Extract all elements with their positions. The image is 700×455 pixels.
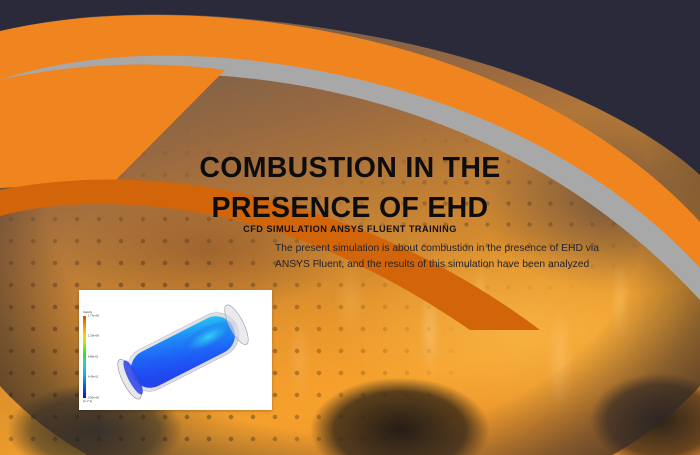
colorbar-gradient	[83, 316, 86, 398]
slide-body-text: The present simulation is about combusti…	[275, 241, 627, 274]
cfd-result-panel: Velocity 1.77e+00 1.33e+00 8.86e-01 4.43…	[79, 290, 272, 410]
title-line-1: COMBUSTION IN THE	[199, 152, 500, 184]
legend-tick: 1.77e+00	[88, 314, 99, 317]
page-title: COMBUSTION IN THE PRESENCE OF EHD	[0, 148, 700, 229]
legend-tick: 1.33e+00	[88, 335, 99, 338]
legend-body: 1.77e+00 1.33e+00 8.86e-01 4.43e-01 0.00…	[83, 316, 117, 398]
legend-unit: [m s^-1]	[83, 400, 92, 403]
title-block: COMBUSTION IN THE PRESENCE OF EHD	[0, 148, 700, 229]
title-line-2: PRESENCE OF EHD	[212, 192, 489, 224]
slide-subtitle: CFD SIMULATION ANSYS FLUENT TRAINING	[0, 224, 700, 234]
presentation-slide: COMBUSTION IN THE PRESENCE OF EHD CFD SI…	[0, 0, 700, 455]
velocity-colorbar-legend: Velocity 1.77e+00 1.33e+00 8.86e-01 4.43…	[83, 312, 117, 398]
legend-tick: 8.86e-01	[88, 355, 98, 358]
legend-tick: 4.43e-01	[88, 376, 98, 379]
